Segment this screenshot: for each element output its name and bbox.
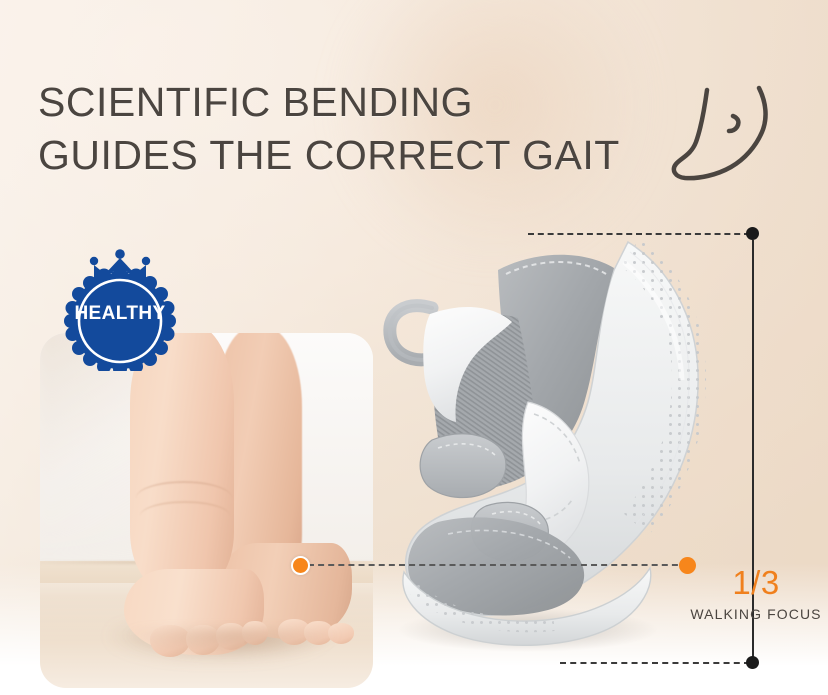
marketing-image-canvas: SCIENTIFIC BENDING GUIDES THE CORRECT GA… xyxy=(0,0,828,695)
foot-outline-icon xyxy=(663,76,783,186)
badge-seal-icon xyxy=(58,243,182,371)
headline-line-2: GUIDES THE CORRECT GAIT xyxy=(38,131,620,180)
toe-shadow xyxy=(124,629,364,659)
focus-fraction-value: 1/3 xyxy=(684,566,828,600)
measurement-top-dashed-line xyxy=(528,233,750,235)
healthy-badge: HEALTHY xyxy=(58,243,182,371)
heel-callout-dot xyxy=(291,556,310,575)
headline-line-1: SCIENTIFIC BENDING xyxy=(38,78,620,127)
measurement-top-endpoint xyxy=(746,227,759,240)
measurement-bottom-endpoint xyxy=(746,656,759,669)
child-feet-photo xyxy=(40,333,373,688)
callout-dashed-line xyxy=(308,564,688,566)
ankle-crease-lower xyxy=(140,501,230,531)
walking-focus-callout: 1/3 WALKING FOCUS xyxy=(684,566,828,622)
page-title: SCIENTIFIC BENDING GUIDES THE CORRECT GA… xyxy=(38,78,620,180)
badge-scallop xyxy=(64,266,176,371)
focus-caption-label: WALKING FOCUS xyxy=(684,606,828,622)
measurement-bottom-dashed-line xyxy=(560,662,750,664)
product-shoe-image xyxy=(378,222,718,652)
child-leg-front xyxy=(130,333,234,591)
